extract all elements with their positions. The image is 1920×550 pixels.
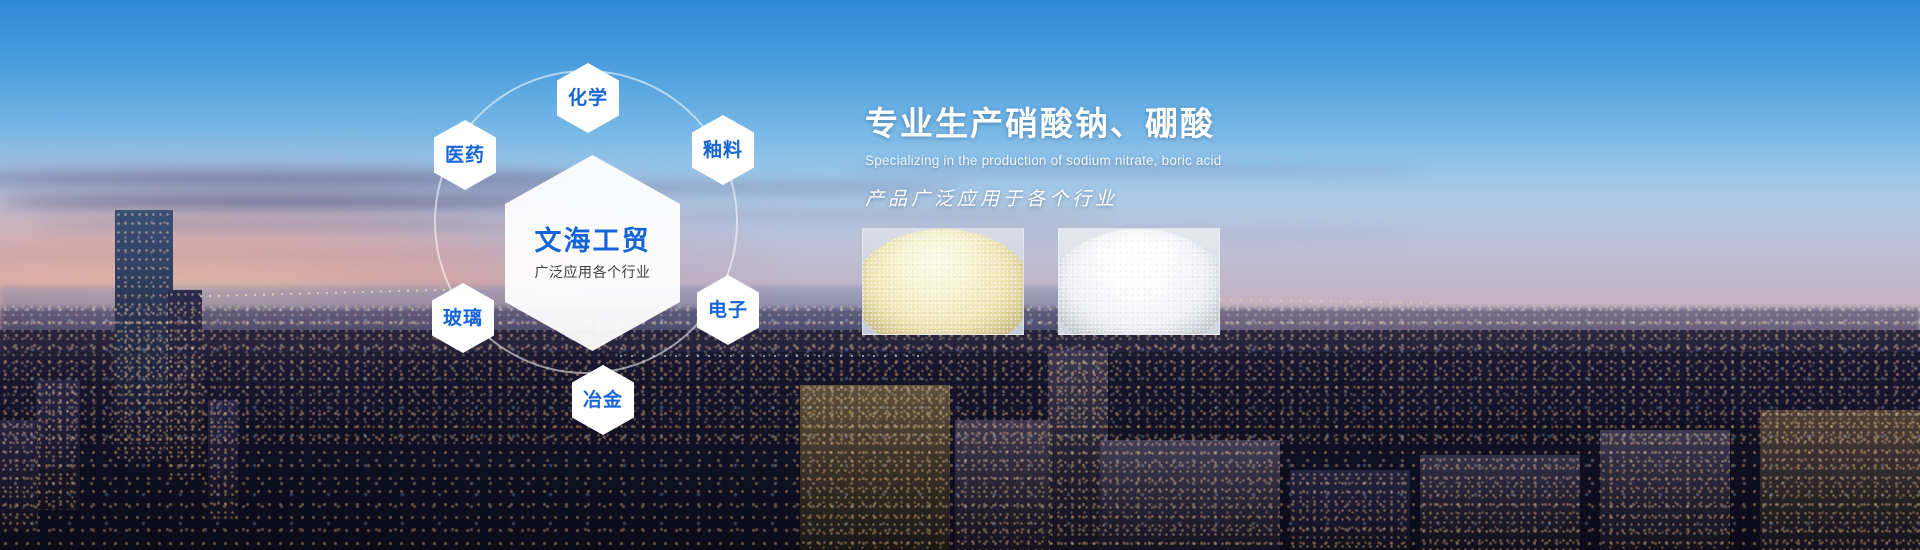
powder-pile	[1058, 229, 1220, 335]
company-name: 文海工贸	[535, 227, 651, 257]
hero-banner: 化学 釉料 电子 冶金 玻璃 医药 文海工贸 广泛应用各个行业 专业生产硝酸钠、…	[0, 0, 1920, 550]
hex-node-label: 冶金	[583, 391, 623, 410]
banner-tagline: 产品广泛应用于各个行业	[865, 189, 1565, 212]
product-photo-sodium-nitrate	[862, 228, 1024, 335]
hex-node-label: 电子	[708, 301, 748, 320]
city-lights-near	[0, 303, 1920, 550]
hexagon-diagram: 化学 釉料 电子 冶金 玻璃 医药 文海工贸 广泛应用各个行业	[432, 35, 762, 435]
hex-node-label: 医药	[445, 146, 485, 165]
banner-subline: Specializing in the production of sodium…	[865, 153, 1565, 169]
powder-grain-texture	[1058, 229, 1220, 335]
hex-node-label: 釉料	[703, 141, 743, 160]
powder-pile	[862, 229, 1024, 335]
hex-node-label: 化学	[568, 89, 608, 108]
banner-copy: 专业生产硝酸钠、硼酸 Specializing in the productio…	[865, 104, 1565, 212]
powder-grain-texture	[862, 229, 1024, 335]
hex-node-metallurgy[interactable]: 冶金	[572, 365, 634, 435]
product-photos	[862, 228, 1220, 335]
banner-headline: 专业生产硝酸钠、硼酸	[865, 104, 1565, 144]
company-tagline: 广泛应用各个行业	[535, 265, 651, 279]
hex-node-label: 玻璃	[443, 309, 483, 328]
product-photo-boric-acid	[1058, 228, 1220, 335]
